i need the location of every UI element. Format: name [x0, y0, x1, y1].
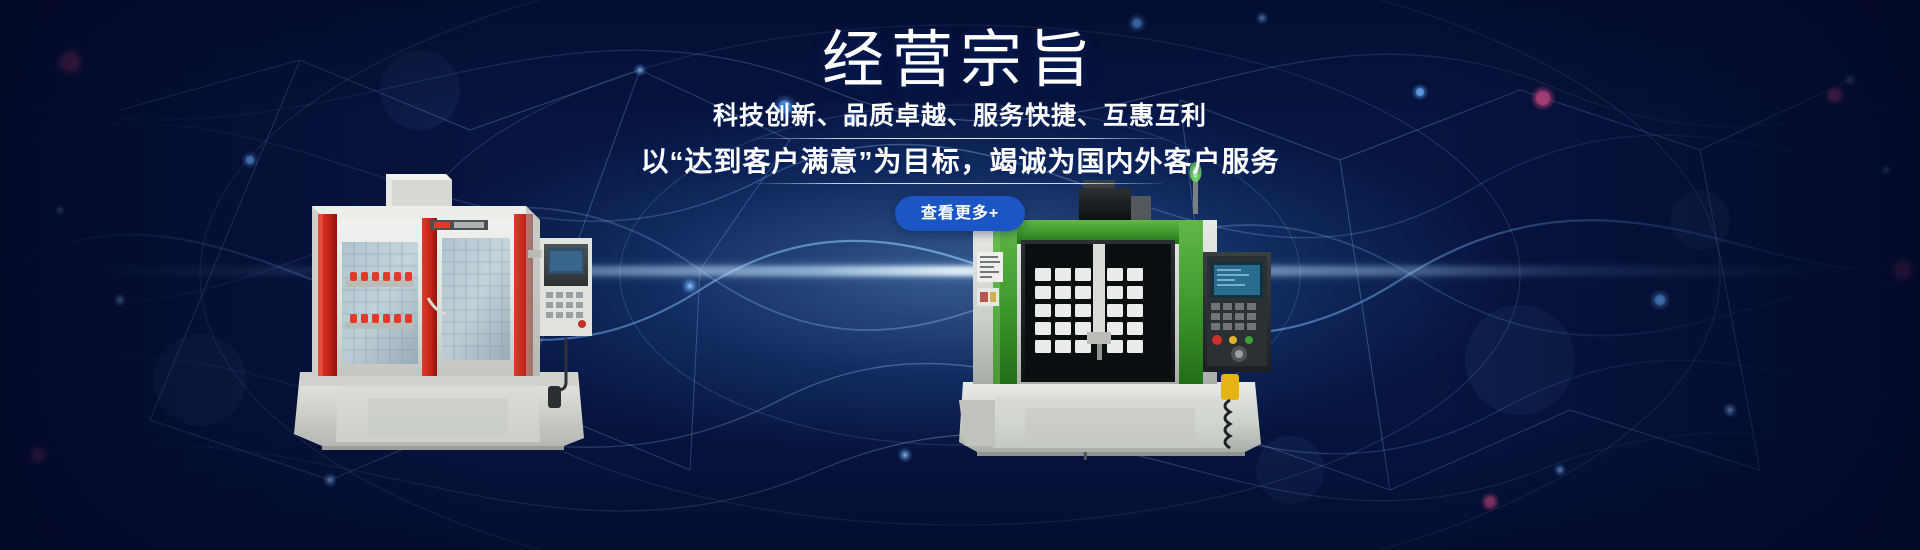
banner-subtitle: 科技创新、品质卓越、服务快捷、互惠互利: [0, 100, 1920, 132]
banner-tagline: 以“达到客户满意”为目标，竭诚为国内外客户服务: [0, 144, 1920, 180]
view-more-button[interactable]: 查看更多+: [895, 196, 1025, 231]
divider-top: [757, 138, 1163, 139]
cta-container: 查看更多+: [0, 196, 1920, 231]
promo-banner: 经营宗旨 科技创新、品质卓越、服务快捷、互惠互利 以“达到客户满意”为目标，竭诚…: [0, 0, 1920, 550]
page-title: 经营宗旨: [0, 26, 1920, 96]
cnc-machining-center-white-red: [278, 146, 608, 456]
divider-bottom: [757, 183, 1163, 184]
